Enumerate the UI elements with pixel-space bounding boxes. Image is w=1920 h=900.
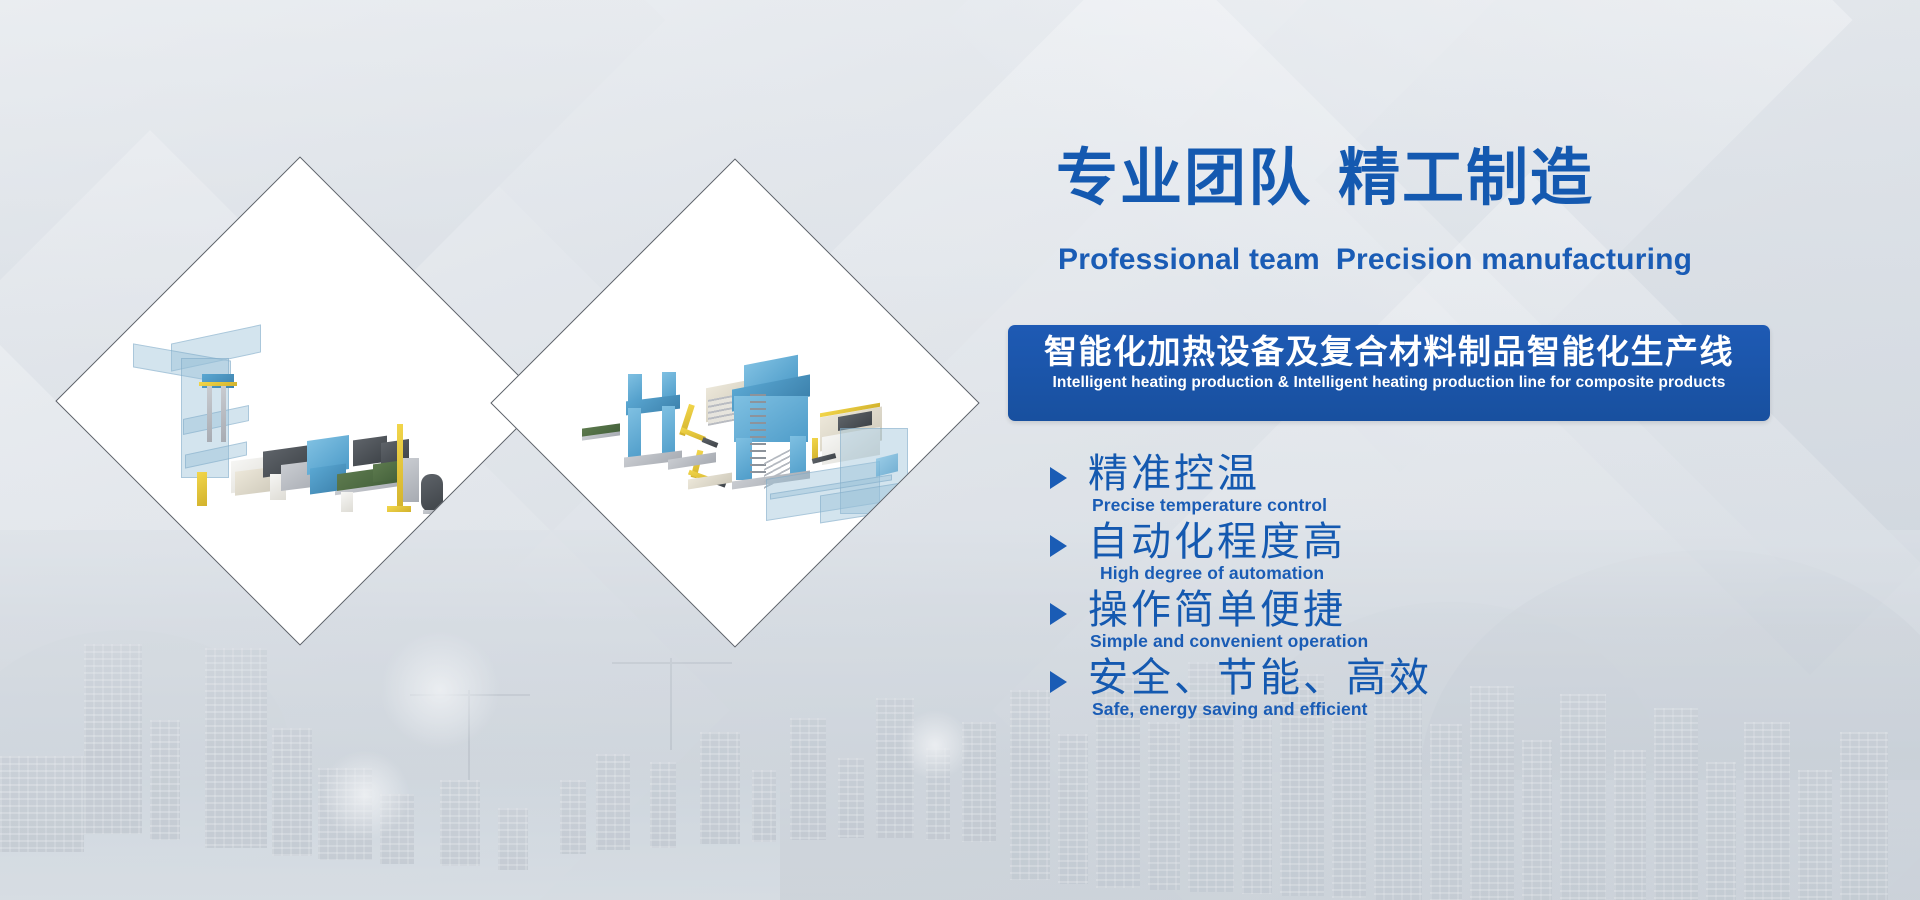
- product-name-en: Intelligent heating production & Intelli…: [1022, 374, 1756, 392]
- feature-label-cn: 安全、节能、高效: [1088, 654, 1432, 702]
- feature-label-en: Safe, energy saving and efficient: [1092, 699, 1368, 720]
- feature-label-en: Simple and convenient operation: [1090, 631, 1368, 652]
- press-rail: [197, 472, 207, 506]
- headline-cn-1: 专业团队: [1056, 144, 1312, 213]
- banner-text-column: 专业团队精工制造 Professional teamPrecision manu…: [1040, 0, 1920, 900]
- press-frame-column: [662, 406, 675, 458]
- gantry-rail: [403, 458, 419, 502]
- press-column: [221, 386, 226, 442]
- feature-label-cn: 自动化程度高: [1088, 518, 1346, 566]
- headline-en-1: Professional team: [1058, 243, 1320, 276]
- feature-item-precise-temperature-control: 精准控温 Precise temperature control: [1040, 452, 1900, 520]
- headline-en-2: Precision manufacturing: [1336, 243, 1692, 276]
- feature-item-simple-and-convenient-operation: 操作简单便捷 Simple and convenient operation: [1040, 588, 1900, 656]
- operator-panel: [341, 492, 353, 512]
- page-title: 专业团队精工制造: [1056, 148, 1594, 210]
- feature-label-cn: 精准控温: [1088, 450, 1260, 498]
- page-subtitle: Professional teamPrecision manufacturing: [1058, 243, 1692, 277]
- feature-item-high-degree-of-automation: 自动化程度高 High degree of automation: [1040, 520, 1900, 588]
- triangle-bullet-icon: [1050, 467, 1067, 489]
- headline-cn-2: 精工制造: [1338, 144, 1594, 213]
- feature-label-cn: 操作简单便捷: [1088, 586, 1346, 634]
- product-name-cn: 智能化加热设备及复合材料制品智能化生产线: [1022, 333, 1756, 372]
- feature-label-en: Precise temperature control: [1092, 495, 1327, 516]
- press-column: [207, 386, 212, 442]
- triangle-bullet-icon: [1050, 535, 1067, 557]
- robot-gantry-arm: [387, 506, 411, 512]
- feature-list: 精准控温 Precise temperature control 自动化程度高 …: [1040, 452, 1900, 724]
- feature-label-en: High degree of automation: [1100, 563, 1324, 584]
- feature-item-safe-energy-saving-efficient: 安全、节能、高效 Safe, energy saving and efficie…: [1040, 656, 1900, 724]
- triangle-bullet-icon: [1050, 671, 1067, 693]
- triangle-bullet-icon: [1050, 603, 1067, 625]
- press-frame-column: [628, 408, 641, 460]
- product-name-bar: 智能化加热设备及复合材料制品智能化生产线 Intelligent heating…: [1008, 325, 1770, 421]
- banner-stage: 专业团队精工制造 Professional teamPrecision manu…: [0, 0, 1920, 900]
- press-rail: [199, 382, 237, 386]
- robot-gripper: [702, 437, 719, 448]
- press-frame-left: [628, 374, 642, 402]
